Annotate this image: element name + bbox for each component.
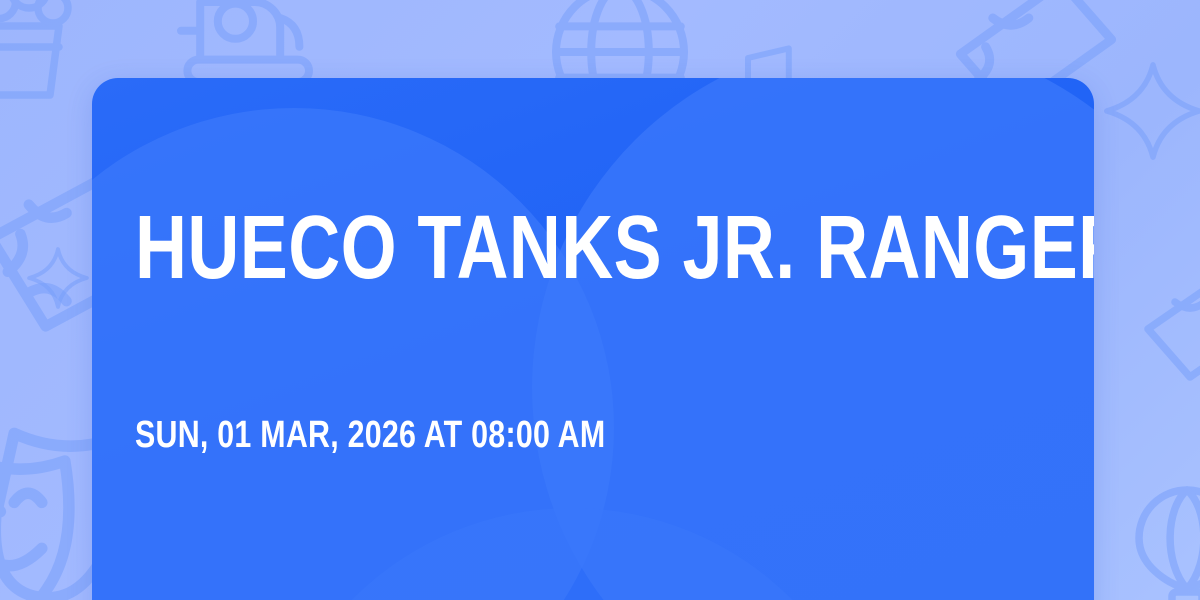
event-card-content: HUECO TANKS JR. RANGERS SUN, 01 MAR, 202… [135, 78, 1055, 600]
ticket-icon [1128, 248, 1200, 398]
event-banner: HUECO TANKS JR. RANGERS SUN, 01 MAR, 202… [0, 0, 1200, 600]
event-card[interactable]: HUECO TANKS JR. RANGERS SUN, 01 MAR, 202… [92, 78, 1094, 600]
sparkle-icon [18, 238, 98, 318]
popcorn-icon [0, 0, 98, 110]
hot-air-balloon-icon [1112, 470, 1200, 600]
sparkle-icon [1098, 56, 1200, 166]
event-title: HUECO TANKS JR. RANGERS [135, 203, 1094, 293]
event-datetime: SUN, 01 MAR, 2026 AT 08:00 AM [135, 416, 605, 454]
